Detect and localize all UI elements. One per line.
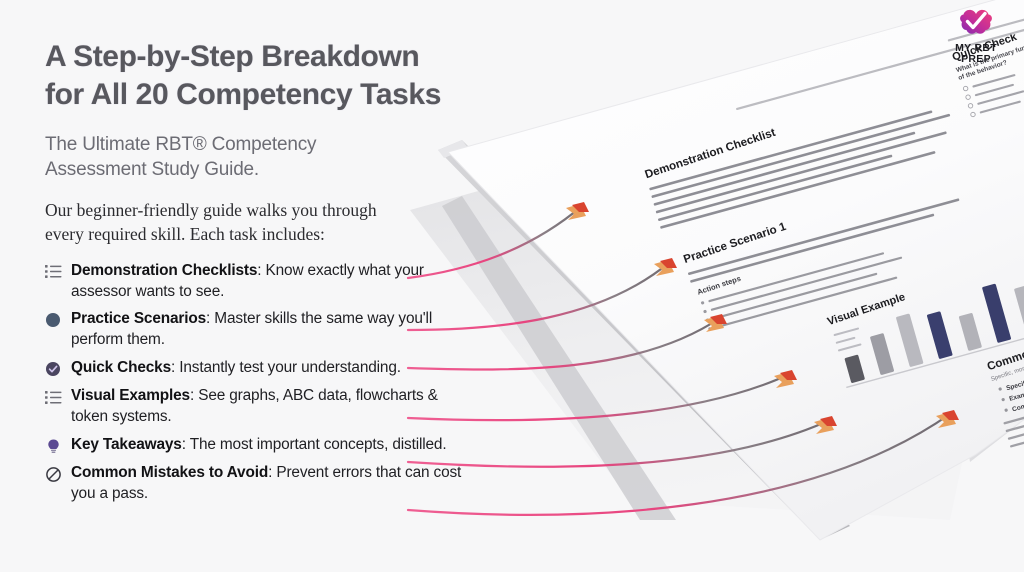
- brand-logo-text: MY RBT PREP: [940, 43, 1012, 66]
- filled-circle-icon: [45, 309, 71, 330]
- list-item: Quick Checks: Instantly test your unders…: [45, 358, 465, 379]
- page-title-line-1: A Step-by-Step Breakdown: [45, 38, 465, 76]
- list-item-text: Demonstration Checklists: Know exactly w…: [71, 261, 465, 303]
- page-title-line-2: for All 20 Competency Tasks: [45, 76, 465, 114]
- list-item: Key Takeaways: The most important concep…: [45, 435, 465, 456]
- list-item-title: Practice Scenarios: [71, 310, 206, 327]
- list-item-title: Quick Checks: [71, 359, 171, 376]
- list-item-text: Quick Checks: Instantly test your unders…: [71, 358, 401, 379]
- page-subtitle-line-1: The Ultimate RBT® Competency: [45, 132, 465, 157]
- intro-paragraph: Our beginner-friendly guide walks you th…: [45, 198, 465, 246]
- list-item-title: Visual Examples: [71, 387, 190, 404]
- list-item-text: Key Takeaways: The most important concep…: [71, 435, 446, 456]
- list-checklist-icon: [45, 261, 71, 282]
- lightbulb-icon: [45, 435, 71, 456]
- intro-paragraph-line-2: every required skill. Each task includes…: [45, 222, 465, 246]
- page-subtitle: The Ultimate RBT® Competency Assessment …: [45, 132, 465, 183]
- content-column: A Step-by-Step Breakdown for All 20 Comp…: [45, 38, 465, 512]
- list-item-title: Common Mistakes to Avoid: [71, 464, 268, 481]
- intro-paragraph-line-1: Our beginner-friendly guide walks you th…: [45, 198, 465, 222]
- list-item-text: Practice Scenarios: Master skills the sa…: [71, 309, 465, 351]
- brand-logo[interactable]: MY RBT PREP: [940, 8, 1012, 66]
- study-guide-artwork: Demonstration Checklist Practice Scenari…: [390, 0, 1024, 572]
- list-item-title: Key Takeaways: [71, 436, 182, 453]
- page-subtitle-line-2: Assessment Study Guide.: [45, 157, 465, 182]
- list-item-body: : The most important concepts, distilled…: [182, 436, 447, 453]
- list-item-body: : Instantly test your understanding.: [171, 359, 401, 376]
- list-item-title: Demonstration Checklists: [71, 262, 257, 279]
- brain-check-icon: [940, 8, 1012, 42]
- list-item-text: Common Mistakes to Avoid: Prevent errors…: [71, 463, 465, 505]
- list-item-text: Visual Examples: See graphs, ABC data, f…: [71, 386, 465, 428]
- page-title: A Step-by-Step Breakdown for All 20 Comp…: [45, 38, 465, 115]
- check-circle-icon: [45, 358, 71, 379]
- list-item: Demonstration Checklists: Know exactly w…: [45, 261, 465, 303]
- list-item: Visual Examples: See graphs, ABC data, f…: [45, 386, 465, 428]
- prohibited-icon: [45, 463, 71, 484]
- list-item: Common Mistakes to Avoid: Prevent errors…: [45, 463, 465, 505]
- feature-list: Demonstration Checklists: Know exactly w…: [45, 261, 465, 506]
- list-item: Practice Scenarios: Master skills the sa…: [45, 309, 465, 351]
- list-checklist-icon: [45, 386, 71, 407]
- brand-logo-line-2: PREP: [940, 54, 1012, 65]
